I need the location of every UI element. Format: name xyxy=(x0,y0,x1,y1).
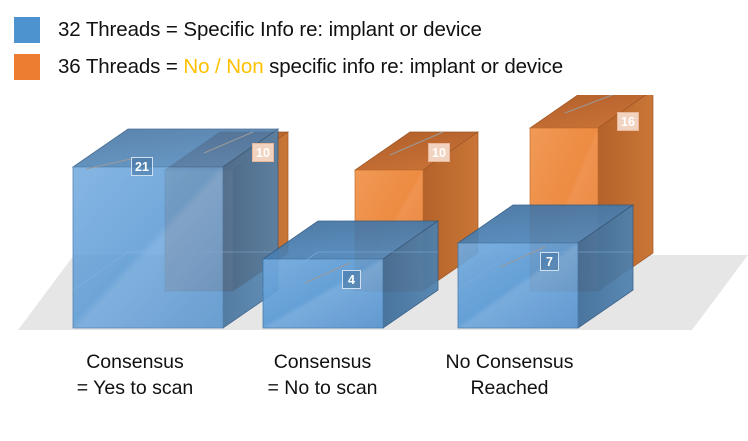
data-label-blue-no-consensus: 7 xyxy=(540,252,559,271)
chart-plot-area xyxy=(0,95,748,355)
chart-root: 32 Threads = Specific Info re: implant o… xyxy=(0,0,748,441)
category-label-line2: Reached xyxy=(432,376,587,402)
category-label-consensus-no: Consensus = No to scan xyxy=(250,350,395,402)
category-axis-labels: Consensus = Yes to scan Consensus = No t… xyxy=(0,340,748,410)
legend-item-orange: 36 Threads = No / Non specific info re: … xyxy=(14,54,563,80)
category-label-line1: No Consensus xyxy=(432,350,587,376)
data-label-blue-consensus-no: 4 xyxy=(342,270,361,289)
legend-label-orange: 36 Threads = No / Non specific info re: … xyxy=(58,55,563,79)
category-label-line2: = No to scan xyxy=(250,376,395,402)
legend-swatch-orange-icon xyxy=(14,54,40,80)
category-label-no-consensus: No Consensus Reached xyxy=(432,350,587,402)
category-label-line2: = Yes to scan xyxy=(55,376,215,402)
legend-item-blue: 32 Threads = Specific Info re: implant o… xyxy=(14,17,482,43)
legend-label-blue: 32 Threads = Specific Info re: implant o… xyxy=(58,18,482,42)
legend-highlight-text: No / Non xyxy=(183,55,263,78)
legend-swatch-blue-icon xyxy=(14,17,40,43)
data-label-orange-consensus-yes: 10 xyxy=(252,143,274,162)
category-label-consensus-yes: Consensus = Yes to scan xyxy=(55,350,215,402)
chart-svg xyxy=(0,95,748,355)
bar-blue-consensus-yes xyxy=(73,129,278,328)
data-label-orange-no-consensus: 16 xyxy=(617,112,639,131)
data-label-blue-consensus-yes: 21 xyxy=(131,157,153,176)
data-label-orange-consensus-no: 10 xyxy=(428,143,450,162)
category-label-line1: Consensus xyxy=(250,350,395,376)
category-label-line1: Consensus xyxy=(55,350,215,376)
